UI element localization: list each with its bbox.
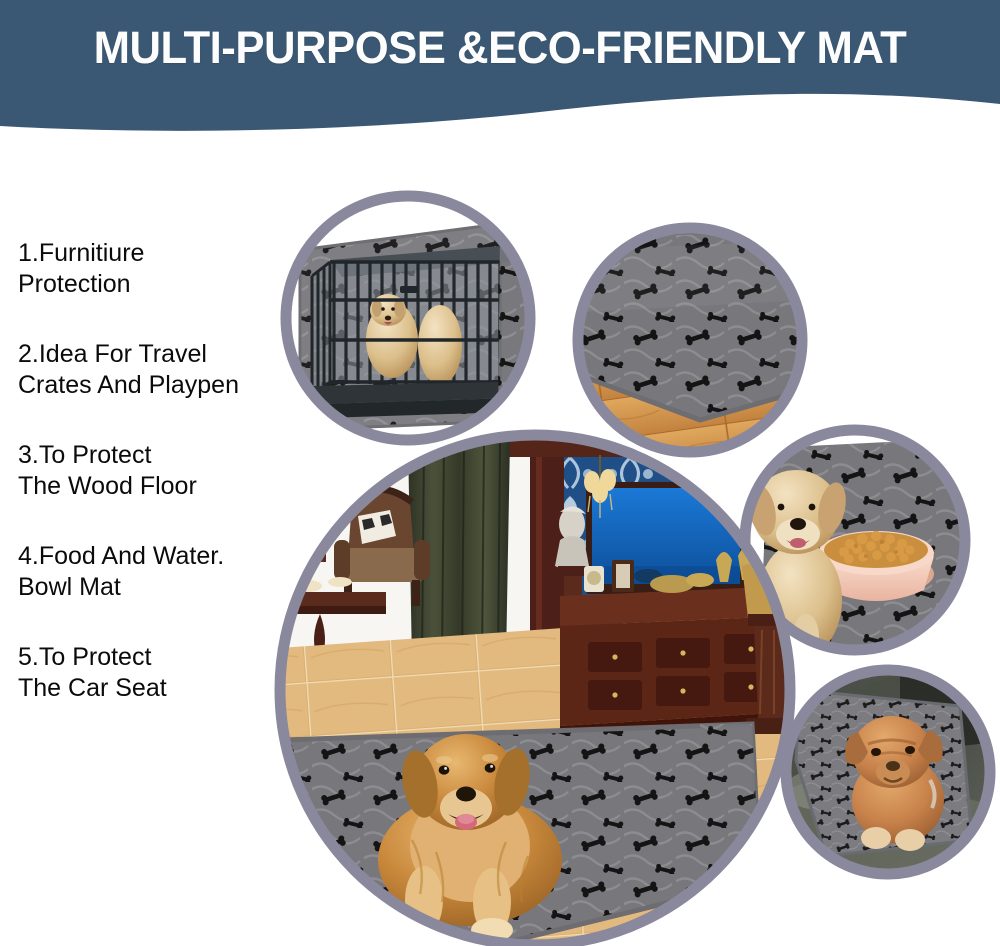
dog-crate-photo — [286, 196, 530, 440]
crate-frame — [312, 246, 512, 427]
infographic-page: MULTI-PURPOSE &ECO-FRIENDLY MAT 1.Furnit… — [0, 0, 1000, 946]
puppy-car-seat-photo — [784, 670, 996, 874]
mat-on-wood-floor-photo — [560, 228, 820, 452]
photo-collage — [0, 0, 1000, 946]
